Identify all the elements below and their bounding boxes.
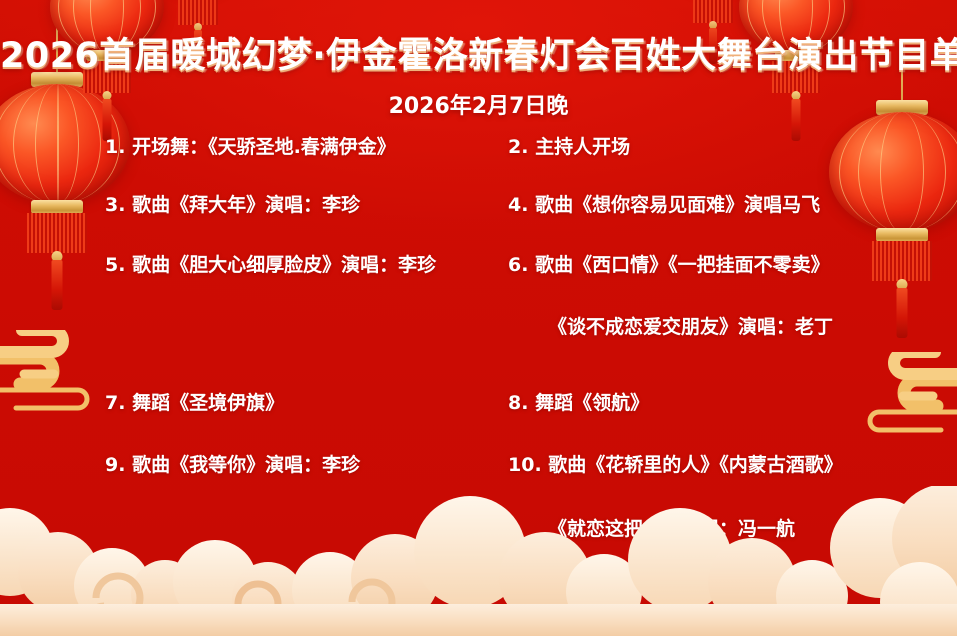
event-date-subtitle: 2026年2月7日晚 — [0, 88, 957, 120]
program-entry-10: 10. 歌曲《花轿里的人》《内蒙古酒歌》 — [508, 450, 843, 477]
program-row: 《谈不成恋爱交朋友》演唱：老丁 — [0, 312, 957, 388]
top-arc-rings-center — [430, 0, 690, 20]
program-entry-3: 3. 歌曲《拜大年》演唱：李珍 — [105, 190, 360, 217]
program-entry-7: 7. 舞蹈《圣境伊旗》 — [105, 388, 284, 415]
program-row: 9. 歌曲《我等你》演唱：李珍 10. 歌曲《花轿里的人》《内蒙古酒歌》 — [0, 450, 957, 514]
program-entry-9: 9. 歌曲《我等你》演唱：李珍 — [105, 450, 360, 477]
program-entry-5: 5. 歌曲《胆大心细厚脸皮》演唱：李珍 — [105, 250, 436, 277]
program-list: 1. 开场舞：《天骄圣地.春满伊金》 2. 主持人开场 3. 歌曲《拜大年》演唱… — [0, 132, 957, 564]
program-entry-4: 4. 歌曲《想你容易见面难》演唱马飞 — [508, 190, 820, 217]
program-entry-6: 6. 歌曲《西口情》《一把挂面不零卖》 — [508, 250, 830, 277]
program-row: 7. 舞蹈《圣境伊旗》 8. 舞蹈《领航》 — [0, 388, 957, 450]
new-year-program-poster: 2026首届暖城幻梦·伊金霍洛新春灯会百姓大舞台演出节目单 2026年2月7日晚… — [0, 0, 957, 636]
program-entry-6-continuation: 《谈不成恋爱交朋友》演唱：老丁 — [548, 312, 833, 339]
program-row: 3. 歌曲《拜大年》演唱：李珍 4. 歌曲《想你容易见面难》演唱马飞 — [0, 190, 957, 250]
program-entry-2: 2. 主持人开场 — [508, 132, 630, 159]
program-row: 1. 开场舞：《天骄圣地.春满伊金》 2. 主持人开场 — [0, 132, 957, 190]
program-entry-1: 1. 开场舞：《天骄圣地.春满伊金》 — [105, 132, 396, 159]
program-row: 5. 歌曲《胆大心细厚脸皮》演唱：李珍 6. 歌曲《西口情》《一把挂面不零卖》 — [0, 250, 957, 312]
program-entry-10-continuation: 《就恋这把土》演唱：冯一航 — [548, 514, 795, 541]
page-title: 2026首届暖城幻梦·伊金霍洛新春灯会百姓大舞台演出节目单 — [0, 27, 957, 78]
program-row: 《就恋这把土》演唱：冯一航 — [0, 514, 957, 564]
program-entry-8: 8. 舞蹈《领航》 — [508, 388, 649, 415]
